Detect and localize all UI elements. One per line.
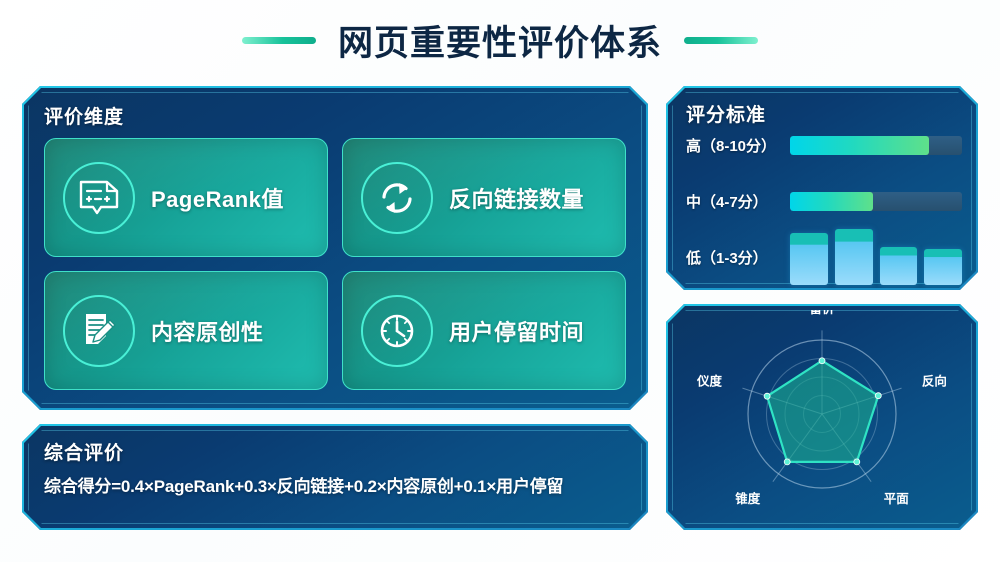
- evaluation-dimensions-panel: 评价维度 PageRank值: [22, 86, 648, 410]
- dimensions-heading: 评价维度: [44, 102, 124, 129]
- scoring-standard-panel: 评分标准 高（8-10分） 中（4-7分） 低（1-3分）: [666, 86, 978, 290]
- document-pencil-icon: [63, 295, 135, 367]
- panel-content: 评分标准 高（8-10分） 中（4-7分） 低（1-3分）: [666, 86, 978, 290]
- radar-chart: 雷价反向平面锥度仪度: [666, 304, 978, 530]
- score-bar-fill: [790, 136, 929, 155]
- title-dash-right-icon: [684, 37, 758, 44]
- score-row-high: 高（8-10分）: [686, 132, 962, 158]
- page-title: 网页重要性评价体系: [338, 15, 662, 66]
- radar-chart-panel: 雷价反向平面锥度仪度: [666, 304, 978, 530]
- score-mini-bar: [835, 229, 873, 285]
- score-mini-bar: [790, 233, 828, 285]
- score-row-label: 中（4-7分）: [686, 191, 790, 212]
- radar-data-point: [819, 358, 825, 364]
- score-row-low: 低（1-3分）: [686, 244, 962, 270]
- page-title-row: 网页重要性评价体系: [0, 16, 1000, 64]
- dimension-label: 内容原创性: [151, 315, 264, 347]
- score-row-label: 高（8-10分）: [686, 135, 790, 156]
- dimension-label: PageRank值: [151, 182, 284, 214]
- radar-data-point: [875, 393, 881, 399]
- dimension-card-pagerank[interactable]: PageRank值: [44, 138, 328, 257]
- radar-data-point: [764, 393, 770, 399]
- refresh-cycle-icon: [361, 162, 433, 234]
- score-bar-fill: [790, 192, 873, 211]
- radar-data-point: [854, 459, 860, 465]
- title-dash-left-icon: [242, 37, 316, 44]
- clock-icon: [361, 295, 433, 367]
- panel-content: 综合评价 综合得分=0.4×PageRank+0.3×反向链接+0.2×内容原创…: [22, 424, 648, 530]
- scoring-heading: 评分标准: [686, 100, 766, 127]
- dimension-card-originality[interactable]: 内容原创性: [44, 271, 328, 390]
- score-mini-bar-chart: [790, 229, 962, 285]
- score-rows: 高（8-10分） 中（4-7分） 低（1-3分）: [686, 132, 962, 274]
- radar-data-point: [784, 459, 790, 465]
- score-bar-track: [790, 192, 962, 211]
- formula-text: 综合得分=0.4×PageRank+0.3×反向链接+0.2×内容原创+0.1×…: [44, 472, 630, 497]
- radar-axis-label: 仪度: [696, 374, 723, 389]
- radar-svg: 雷价反向平面锥度仪度: [672, 310, 972, 524]
- score-row-label: 低（1-3分）: [686, 247, 790, 268]
- slide-canvas: 网页重要性评价体系 评价维度: [0, 0, 1000, 562]
- score-row-medium: 中（4-7分）: [686, 188, 962, 214]
- dimension-card-grid: PageRank值 反向链接数量: [44, 138, 626, 390]
- score-mini-bar: [924, 249, 962, 285]
- radar-axis-label: 雷价: [809, 310, 835, 316]
- score-bar-track: [790, 136, 962, 155]
- dimension-card-backlinks[interactable]: 反向链接数量: [342, 138, 626, 257]
- formula-heading: 综合评价: [44, 438, 124, 465]
- dimension-label: 反向链接数量: [449, 182, 584, 214]
- dimension-card-dwell-time[interactable]: 用户停留时间: [342, 271, 626, 390]
- radar-axis-label: 反向: [922, 374, 947, 389]
- panel-content: 评价维度 PageRank值: [22, 86, 648, 410]
- overall-evaluation-panel: 综合评价 综合得分=0.4×PageRank+0.3×反向链接+0.2×内容原创…: [22, 424, 648, 530]
- radar-axis-label: 平面: [884, 492, 910, 506]
- radar-series-polygon: [767, 361, 878, 462]
- score-mini-bar: [880, 247, 918, 285]
- dimension-label: 用户停留时间: [449, 315, 584, 347]
- document-pagerank-icon: [63, 162, 135, 234]
- radar-axis-label: 锥度: [735, 491, 761, 506]
